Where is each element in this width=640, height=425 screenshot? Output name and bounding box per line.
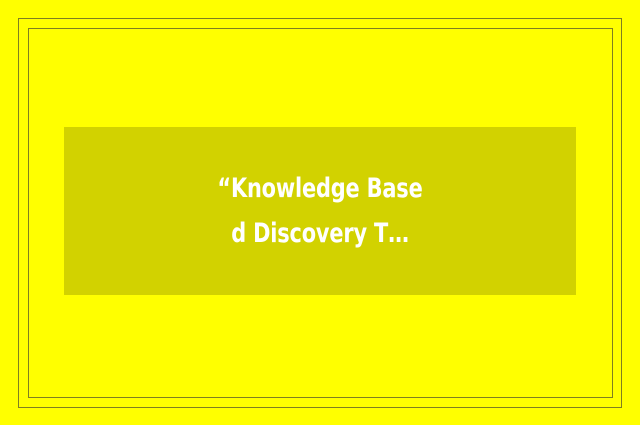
screenshot-canvas: “Knowledge Base d Discovery T… [0, 0, 640, 425]
caption-title-text: “Knowledge Base d Discovery T… [100, 166, 540, 256]
caption-overlay-panel: “Knowledge Base d Discovery T… [64, 127, 576, 295]
